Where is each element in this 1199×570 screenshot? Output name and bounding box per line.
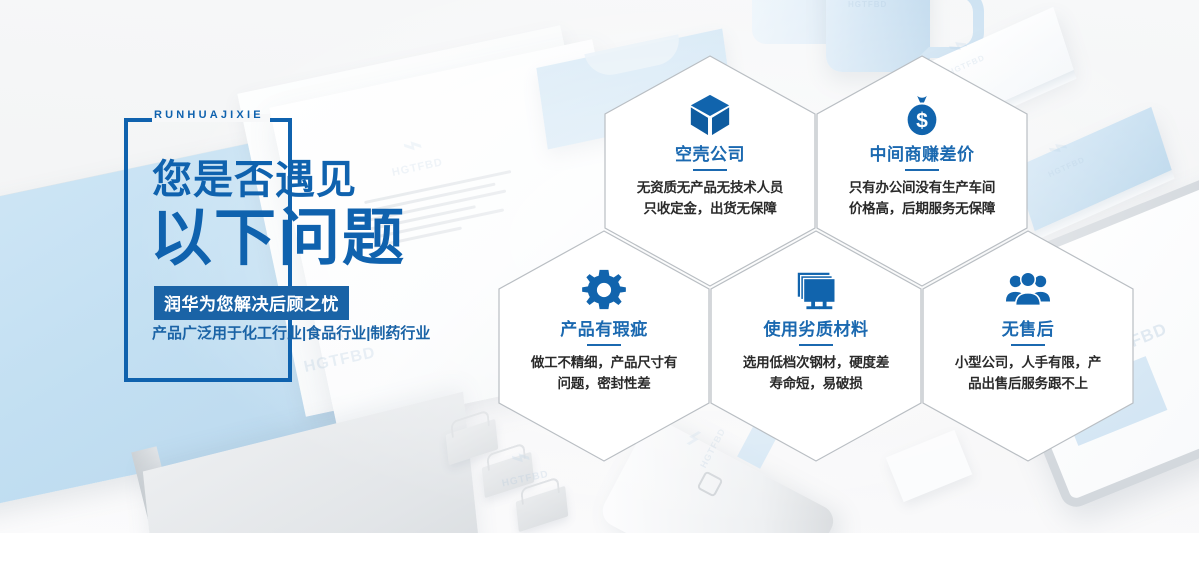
hexagon-description: 做工不精细，产品尺寸有问题，密封性差: [509, 353, 699, 394]
title-underline: [693, 169, 727, 171]
title-underline: [905, 169, 939, 171]
cube-box-icon: [684, 89, 736, 141]
hexagon-description: 小型公司，人手有限，产品出售后服务跟不上: [933, 353, 1123, 394]
hexagon-title: 产品有瑕疵: [560, 320, 648, 340]
title-underline: [799, 344, 833, 346]
title-underline: [587, 344, 621, 346]
hexagon-card-product-defects[interactable]: 产品有瑕疵 做工不精细，产品尺寸有问题，密封性差: [498, 230, 710, 462]
hexagon-title: 使用劣质材料: [764, 320, 869, 340]
hexagon-description: 选用低档次钢材，硬度差寿命短，易破损: [721, 353, 911, 394]
hexagon-description: 无资质无产品无技术人员只收定金，出货无保障: [615, 178, 805, 219]
bottom-white-strip: [0, 533, 1199, 570]
banner-stage: ⌁ HGTFBD ⌁ HGTFBD ⌁ HGTFBD ⌁ HGTFBD ⌁ HG…: [0, 0, 1199, 570]
hexagon-card-no-after-sales[interactable]: 无售后 小型公司，人手有限，产品出售后服务跟不上: [922, 230, 1134, 462]
hexagon-title: 无售后: [1002, 320, 1055, 340]
gear-icon: [578, 264, 630, 316]
hexagon-title: 空壳公司: [675, 145, 745, 165]
title-underline: [1011, 344, 1045, 346]
hexagon-description: 只有办公间没有生产车间价格高，后期服务无保障: [827, 178, 1017, 219]
hexagon-grid: 空壳公司 无资质无产品无技术人员只收定金，出货无保障 $ 中间商赚差价: [0, 0, 1199, 533]
money-bag-icon: $: [896, 89, 948, 141]
hexagon-title: 中间商赚差价: [870, 145, 975, 165]
people-group-icon: [1002, 264, 1054, 316]
svg-text:$: $: [916, 109, 928, 132]
hexagon-card-inferior-materials[interactable]: 使用劣质材料 选用低档次钢材，硬度差寿命短，易破损: [710, 230, 922, 462]
stacked-plates-icon: [790, 264, 842, 316]
